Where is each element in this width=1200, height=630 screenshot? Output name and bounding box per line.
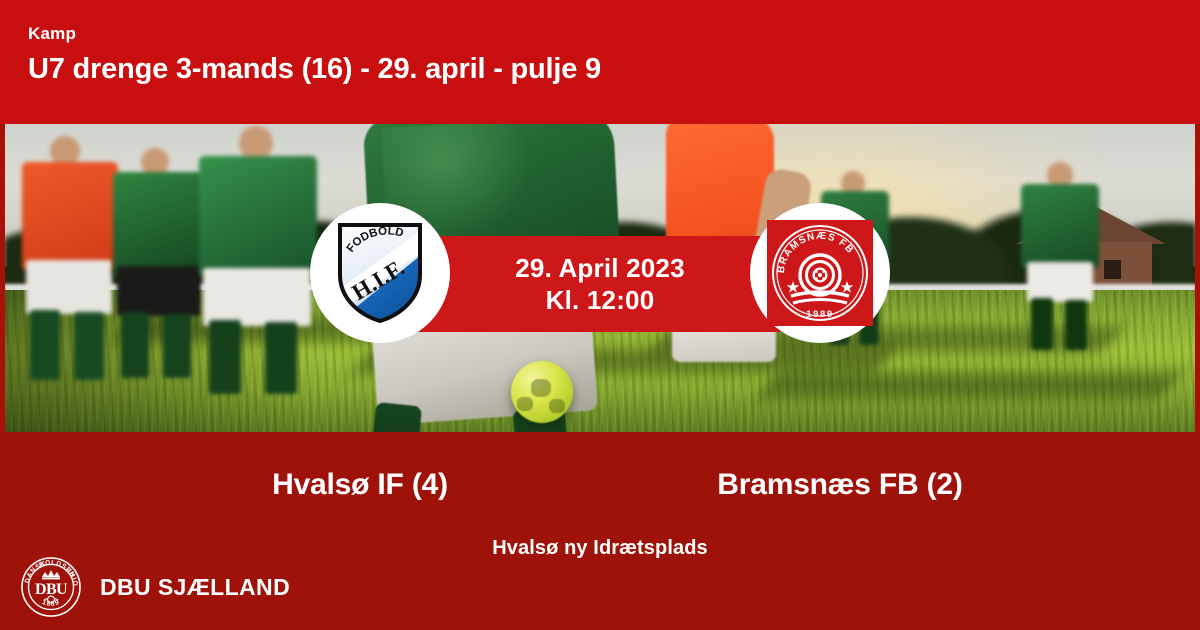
match-graphic-card: Kamp U7 drenge 3-mands (16) - 29. april …: [0, 0, 1200, 630]
player-torso: [22, 162, 118, 270]
player-shorts: [1027, 262, 1093, 302]
photo-edge-right: [1195, 124, 1200, 432]
bramsnaes-year: 1989: [806, 309, 834, 320]
ball-panel: [531, 379, 551, 397]
player-leg: [30, 310, 60, 380]
badge-star-left: [787, 281, 800, 293]
header-banner: Kamp U7 drenge 3-mands (16) - 29. april …: [0, 0, 1200, 124]
home-team-name: Hvalsø IF (4): [150, 468, 570, 502]
dbu-monogram: DBU: [35, 581, 68, 598]
grass-shadow: [757, 372, 1183, 398]
player-leg: [209, 320, 241, 394]
player-torso: [199, 156, 317, 276]
away-team-logo: BRAMSNÆS FB 1989: [750, 203, 890, 343]
photo-edge-left: [0, 124, 5, 432]
player-sock: [363, 402, 421, 432]
football-ball: [511, 361, 573, 423]
player-leg: [121, 312, 149, 378]
ball-panel: [549, 399, 565, 413]
player-leg: [265, 322, 297, 394]
bramsnaes-badge-icon: BRAMSNÆS FB 1989: [767, 220, 873, 326]
player-leg: [1031, 298, 1053, 350]
page-title: U7 drenge 3-mands (16) - 29. april - pul…: [28, 50, 1200, 88]
teams-row: Hvalsø IF (4) Bramsnæs FB (2): [0, 468, 1200, 502]
badge-star-right: [841, 281, 854, 293]
header-kicker: Kamp: [28, 24, 1200, 44]
player-leg: [163, 314, 191, 378]
footer-bar: DANSK BOLDSPIL UNION DBU 18: [0, 544, 1200, 630]
player-leg: [1065, 300, 1087, 350]
match-date: 29. April 2023: [515, 252, 685, 284]
player-torso: [1021, 184, 1099, 268]
player-shorts: [26, 260, 112, 314]
footer-org-label: DBU SJÆLLAND: [100, 574, 290, 601]
player-head: [239, 126, 273, 160]
background-player: [1017, 164, 1109, 350]
player-leg: [74, 312, 104, 380]
away-team-name: Bramsnæs FB (2): [630, 468, 1050, 502]
match-time: Kl. 12:00: [515, 284, 685, 316]
dbu-logo-icon: DANSK BOLDSPIL UNION DBU 18: [20, 556, 82, 618]
home-team-logo: FODBOLD H.I.F.: [310, 203, 450, 343]
hif-shield-icon: FODBOLD H.I.F.: [334, 221, 426, 325]
player-shorts: [203, 268, 311, 326]
ball-panel: [517, 397, 533, 411]
